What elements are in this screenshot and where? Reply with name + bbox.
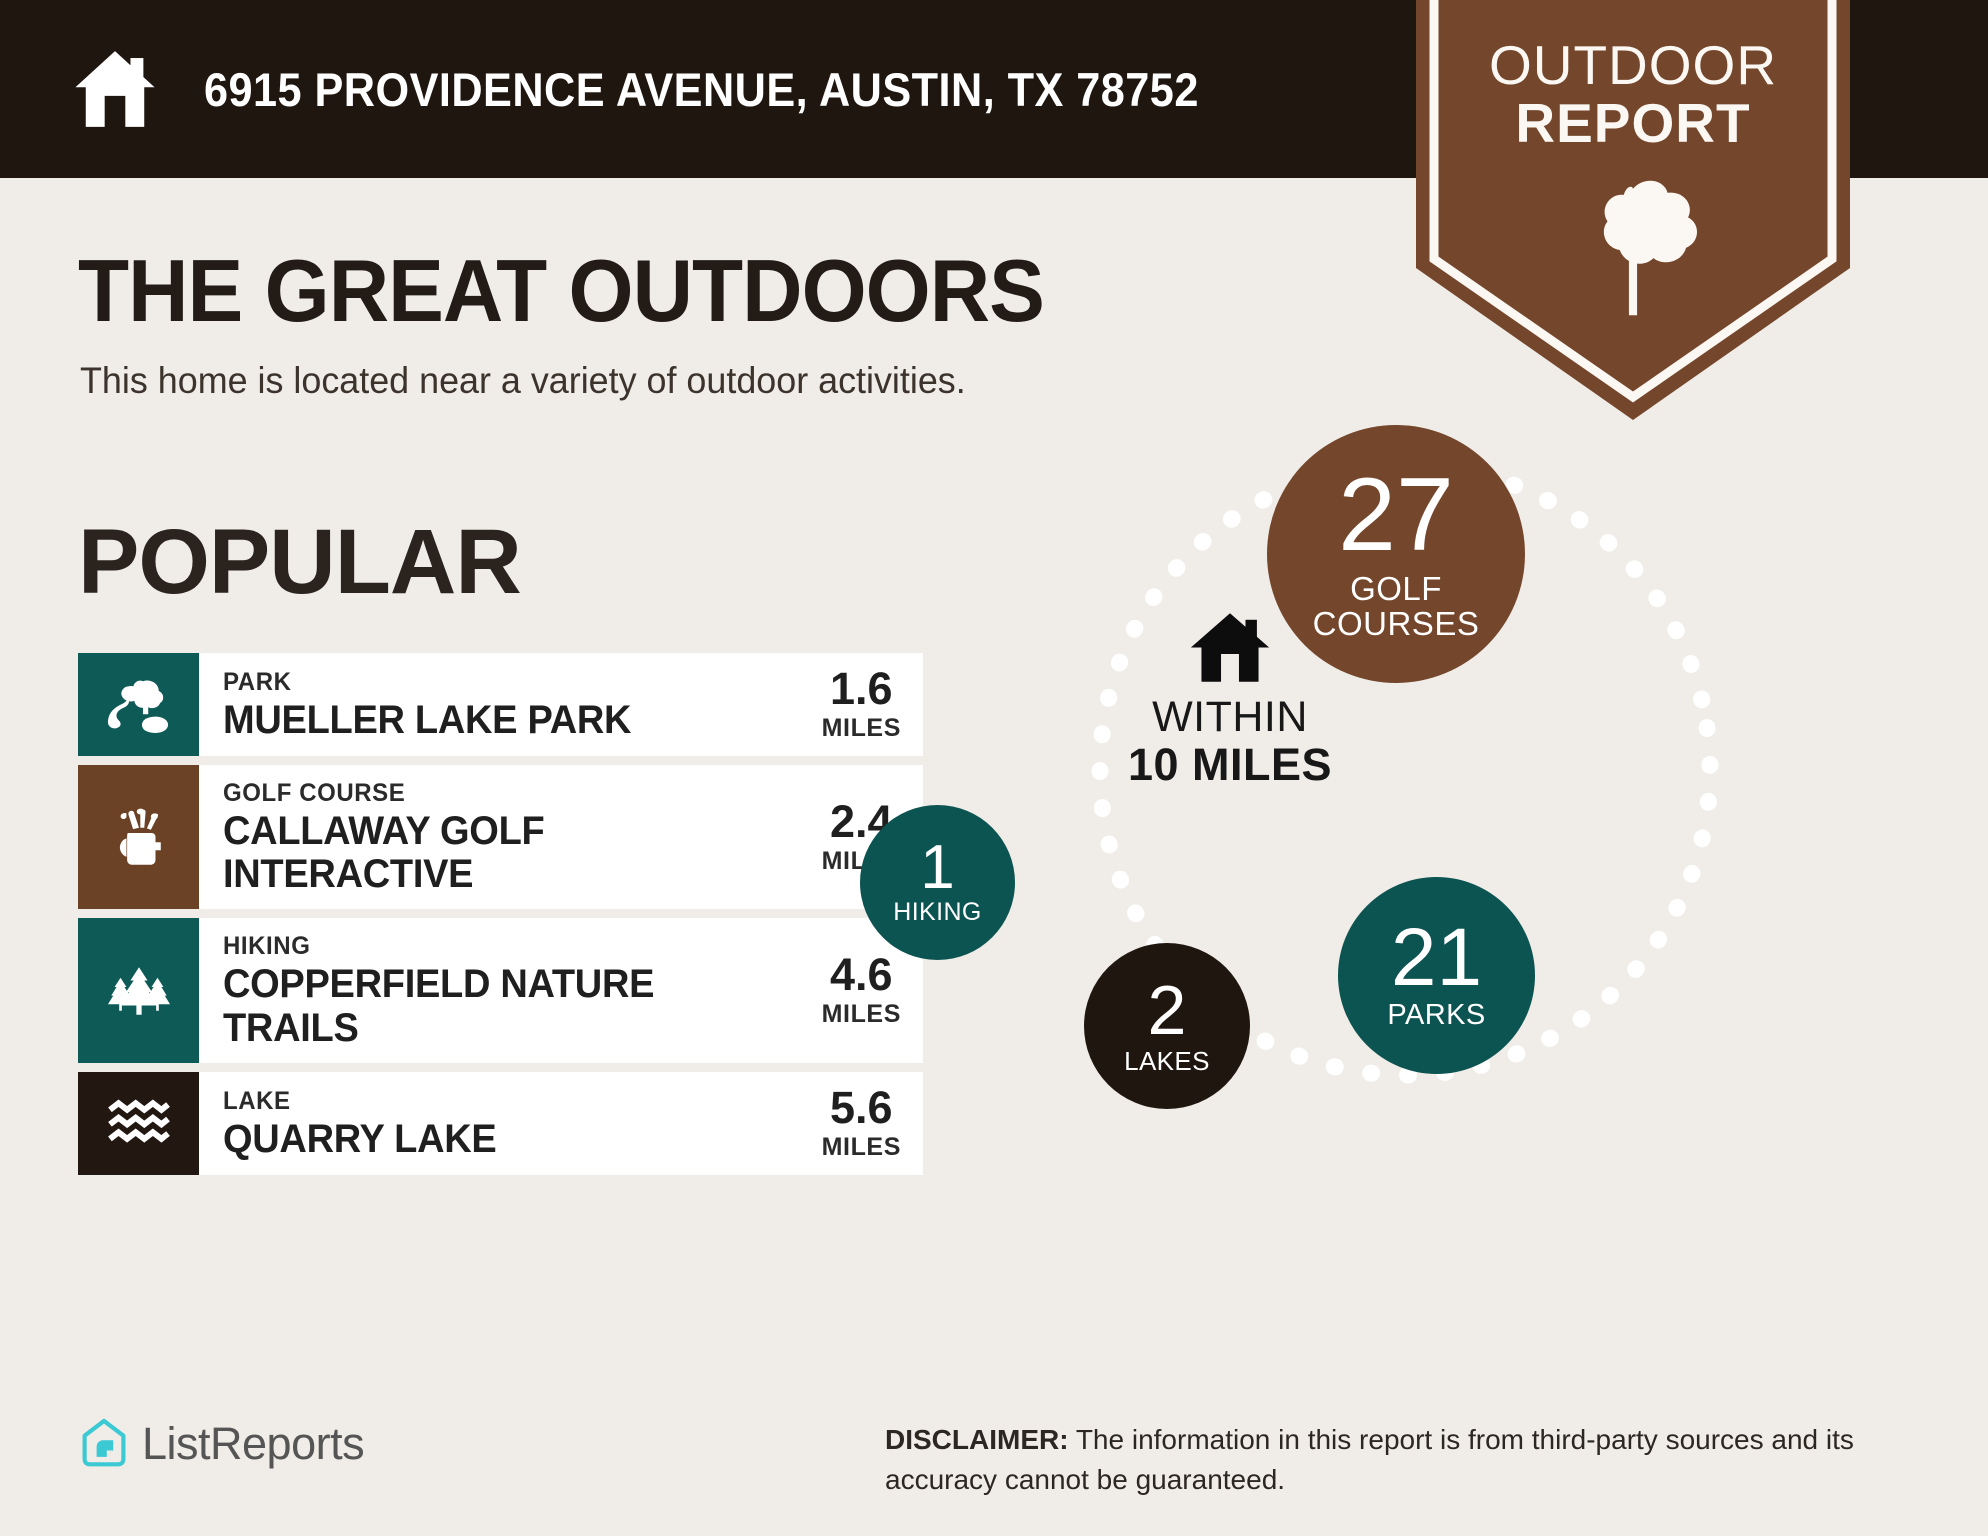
center-line1: WITHIN — [1060, 695, 1400, 740]
stat-label: PARKS — [1387, 1000, 1485, 1031]
row-category: HIKING — [223, 931, 786, 961]
within-10-miles-diagram: 27 GOLF COURSES 21 PARKS 2 LAKES 1 HIKIN… — [1060, 440, 1960, 1320]
row-distance: 4.6 MILES — [810, 952, 923, 1029]
disclaimer: DISCLAIMER: The information in this repo… — [885, 1420, 1925, 1500]
row-icon-tile — [78, 918, 199, 1062]
row-distance-value: 5.6 — [822, 1085, 901, 1130]
pine-trees-icon — [106, 958, 172, 1024]
park-trees-path-icon — [106, 672, 172, 738]
center-line2: 10 MILES — [1060, 740, 1400, 790]
page-subtitle: This home is located near a variety of o… — [80, 360, 966, 402]
row-name: MUELLER LAKE PARK — [223, 699, 631, 742]
stat-bubble-lakes[interactable]: 2 LAKES — [1084, 943, 1250, 1109]
listreports-logo-text: ListReports — [142, 1418, 364, 1470]
badge-shape — [1416, 0, 1850, 420]
row-text: HIKING COPPERFIELD NATURE TRAILS — [223, 931, 810, 1049]
row-name: COPPERFIELD NATURE TRAILS — [223, 963, 780, 1049]
row-name: QUARRY LAKE — [223, 1118, 496, 1161]
diagram-center-label: WITHIN 10 MILES — [1060, 610, 1400, 790]
stat-bubble-hiking[interactable]: 1 HIKING — [860, 805, 1015, 960]
list-item[interactable]: HIKING COPPERFIELD NATURE TRAILS 4.6 MIL… — [78, 918, 923, 1062]
row-text: PARK MUELLER LAKE PARK — [223, 667, 653, 742]
listreports-house-icon — [80, 1418, 128, 1470]
page-title: THE GREAT OUTDOORS — [78, 240, 1044, 342]
disclaimer-label: DISCLAIMER: — [885, 1424, 1069, 1455]
home-icon — [72, 46, 158, 132]
row-icon-tile — [78, 653, 199, 756]
list-item[interactable]: LAKE QUARRY LAKE 5.6 MILES — [78, 1072, 923, 1175]
row-body: PARK MUELLER LAKE PARK 1.6 MILES — [199, 653, 923, 756]
row-distance-value: 4.6 — [822, 952, 901, 997]
water-waves-icon — [106, 1090, 172, 1156]
row-name: CALLAWAY GOLF INTERACTIVE — [223, 810, 780, 896]
stat-label: HIKING — [893, 899, 982, 926]
row-body: GOLF COURSE CALLAWAY GOLF INTERACTIVE 2.… — [199, 765, 923, 909]
stat-bubble-parks[interactable]: 21 PARKS — [1338, 877, 1535, 1074]
stat-count: 27 — [1338, 466, 1454, 565]
row-distance: 1.6 MILES — [810, 666, 923, 743]
row-distance-unit: MILES — [822, 1133, 901, 1162]
row-category: GOLF COURSE — [223, 778, 786, 808]
outdoor-report-badge: OUTDOOR REPORT — [1416, 0, 1850, 420]
property-address: 6915 PROVIDENCE AVENUE, AUSTIN, TX 78752 — [204, 62, 1199, 117]
popular-list: PARK MUELLER LAKE PARK 1.6 MILES — [78, 653, 923, 1184]
stat-count: 21 — [1391, 919, 1482, 997]
stat-count: 1 — [920, 839, 954, 898]
list-item[interactable]: PARK MUELLER LAKE PARK 1.6 MILES — [78, 653, 923, 756]
row-text: GOLF COURSE CALLAWAY GOLF INTERACTIVE — [223, 778, 810, 896]
row-distance-value: 1.6 — [822, 666, 901, 711]
stat-label: LAKES — [1124, 1047, 1210, 1075]
row-body: LAKE QUARRY LAKE 5.6 MILES — [199, 1072, 923, 1175]
row-icon-tile — [78, 1072, 199, 1175]
row-distance-unit: MILES — [822, 1000, 901, 1029]
row-category: LAKE — [223, 1086, 499, 1116]
row-category: PARK — [223, 667, 636, 697]
list-item[interactable]: GOLF COURSE CALLAWAY GOLF INTERACTIVE 2.… — [78, 765, 923, 909]
golf-bag-icon — [106, 804, 172, 870]
stat-label-line1: GOLF — [1313, 571, 1480, 607]
row-body: HIKING COPPERFIELD NATURE TRAILS 4.6 MIL… — [199, 918, 923, 1062]
row-distance-unit: MILES — [822, 714, 901, 743]
stat-count: 2 — [1148, 977, 1187, 1044]
listreports-logo[interactable]: ListReports — [80, 1418, 364, 1470]
row-icon-tile — [78, 765, 199, 909]
home-icon — [1189, 610, 1271, 685]
row-text: LAKE QUARRY LAKE — [223, 1086, 511, 1161]
row-distance: 5.6 MILES — [810, 1085, 923, 1162]
popular-heading: POPULAR — [78, 510, 521, 615]
